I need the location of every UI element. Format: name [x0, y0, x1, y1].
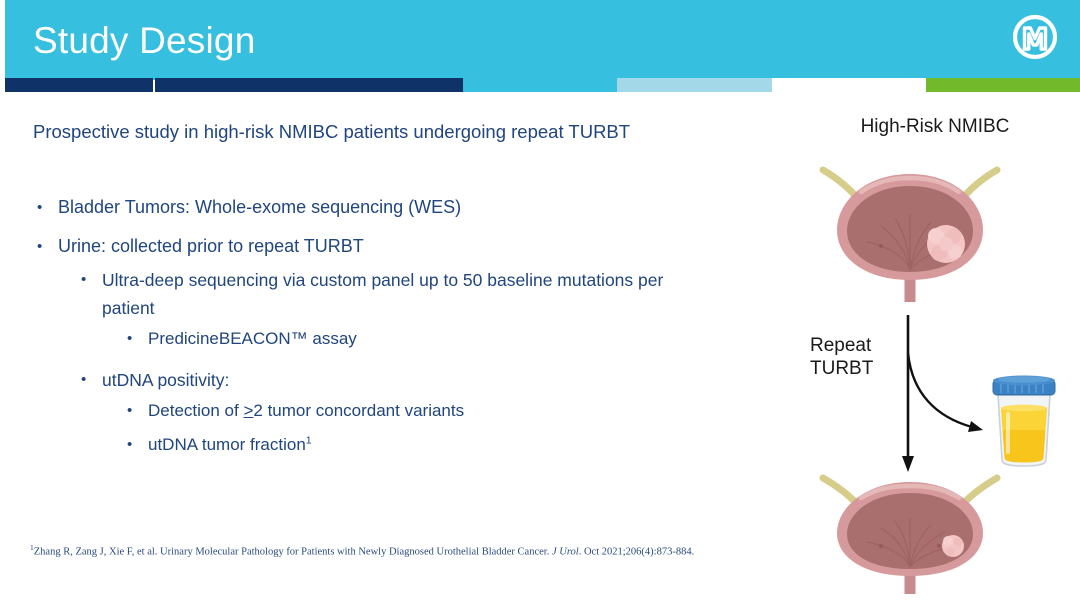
tumor-fraction-text: utDNA tumor fraction [148, 435, 306, 454]
bullet-list: Bladder Tumors: Whole-exome sequencing (… [33, 188, 773, 462]
accent-seg-navy-left [5, 78, 153, 92]
accent-seg-cyan [463, 78, 617, 92]
bullet-level2-sequencing: Ultra-deep sequencing via custom panel u… [77, 266, 712, 322]
bullet-level1-urine: Urine: collected prior to repeat TURBT [33, 227, 773, 266]
footnote-text-part1: Zhang R, Zang J, Xie F, et al. Urinary M… [34, 547, 552, 558]
detection-text-pre: Detection of [148, 401, 243, 420]
bladder-with-tumor-icon [815, 158, 1005, 303]
body-content: Prospective study in high-risk NMIBC pat… [33, 120, 773, 462]
circle-m-logo-icon [1012, 14, 1058, 60]
bullet-level2-utdna-positivity: utDNA positivity: [77, 366, 773, 394]
page-title: Study Design [33, 19, 255, 63]
slide-root: Study Design ® Prospective study in high… [0, 0, 1080, 596]
accent-seg-green [926, 78, 1080, 92]
bullet-level1-tumors: Bladder Tumors: Whole-exome sequencing (… [33, 188, 773, 227]
footnote-ref-superscript: 1 [306, 434, 312, 446]
bullet-level3-tumor-fraction: utDNA tumor fraction1 [123, 428, 773, 462]
accent-seg-white [772, 78, 926, 92]
detection-text-post: 2 tumor concordant variants [253, 401, 464, 420]
accent-seg-light-blue [617, 78, 772, 92]
footnote-citation: 1Zhang R, Zang J, Xie F, et al. Urinary … [30, 541, 750, 560]
footnote-text-part2: . Oct 2021;206(4):873-884. [579, 547, 695, 558]
arrow-down-icon [902, 315, 914, 472]
bladder-with-small-tumor-icon [815, 470, 1005, 595]
accent-seg-navy-right [155, 78, 463, 92]
lead-statement: Prospective study in high-risk NMIBC pat… [33, 120, 773, 144]
bullet-level3-detection-variants: Detection of >2 tumor concordant variant… [123, 394, 773, 428]
greater-equal-symbol: > [243, 401, 253, 420]
diagram-label-high-risk-nmibc: High-Risk NMIBC [810, 115, 1060, 138]
urine-specimen-cup-icon [990, 372, 1058, 467]
study-flow-diagram: High-Risk NMIBC [790, 100, 1080, 596]
bullet-level3-beacon-assay: PredicineBEACON™ assay [123, 322, 773, 356]
accent-bar [0, 78, 1080, 92]
curved-arrow-icon [908, 353, 983, 432]
footnote-journal-name: J Urol [552, 547, 579, 558]
